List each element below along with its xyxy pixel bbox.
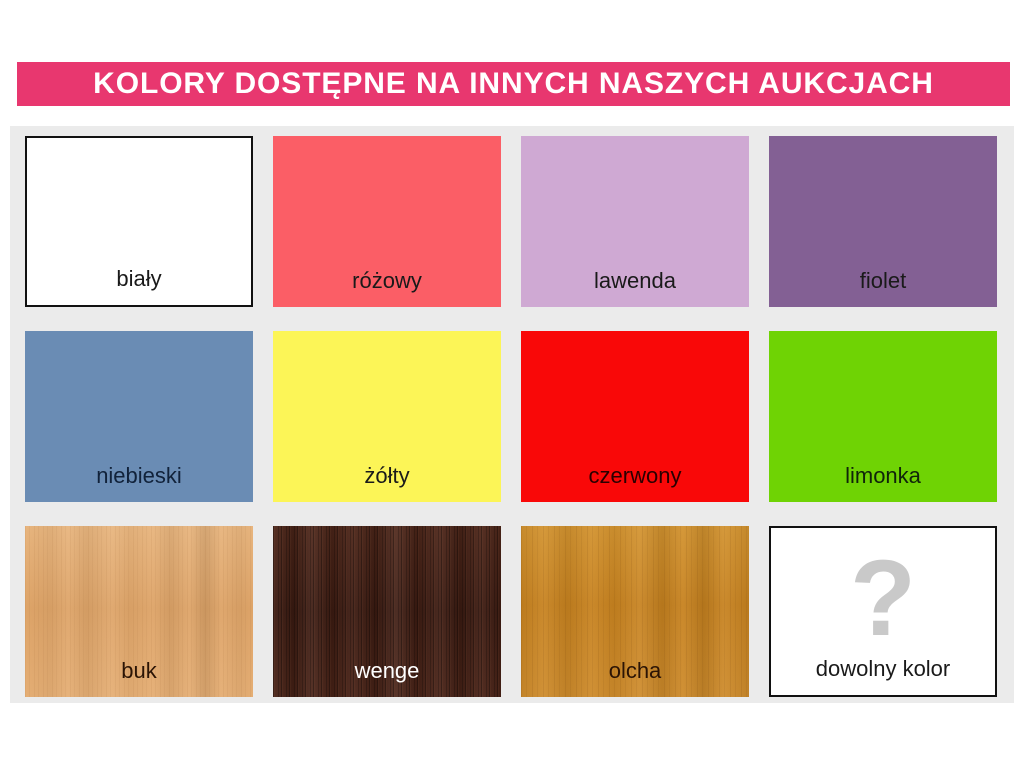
swatch-dowolny-kolor[interactable]: ? dowolny kolor xyxy=(769,526,997,697)
swatch-grid: biały różowy lawenda fiolet niebieski xyxy=(25,136,999,693)
swatch-rozowy[interactable]: różowy xyxy=(273,136,501,307)
swatch-olcha[interactable]: olcha xyxy=(521,526,749,697)
swatch-label-fiolet: fiolet xyxy=(769,269,997,293)
swatch-panel: biały różowy lawenda fiolet niebieski xyxy=(10,126,1014,703)
swatch-label-olcha: olcha xyxy=(521,659,749,683)
swatch-label-rozowy: różowy xyxy=(273,269,501,293)
color-options-page: KOLORY DOSTĘPNE NA INNYCH NASZYCH AUKCJA… xyxy=(0,0,1024,768)
banner-title: KOLORY DOSTĘPNE NA INNYCH NASZYCH AUKCJA… xyxy=(93,69,934,99)
swatch-lawenda[interactable]: lawenda xyxy=(521,136,749,307)
swatch-buk[interactable]: buk xyxy=(25,526,253,697)
swatch-label-wenge: wenge xyxy=(273,659,501,683)
swatch-niebieski[interactable]: niebieski xyxy=(25,331,253,502)
swatch-bialy[interactable]: biały xyxy=(25,136,253,307)
swatch-label-niebieski: niebieski xyxy=(25,464,253,488)
swatch-label-lawenda: lawenda xyxy=(521,269,749,293)
question-mark-icon: ? xyxy=(771,544,995,652)
swatch-limonka[interactable]: limonka xyxy=(769,331,997,502)
swatch-czerwony[interactable]: czerwony xyxy=(521,331,749,502)
swatch-zolty[interactable]: żółty xyxy=(273,331,501,502)
swatch-label-limonka: limonka xyxy=(769,464,997,488)
swatch-label-dowolny-kolor: dowolny kolor xyxy=(771,657,995,681)
swatch-wenge[interactable]: wenge xyxy=(273,526,501,697)
header-banner: KOLORY DOSTĘPNE NA INNYCH NASZYCH AUKCJA… xyxy=(17,62,1010,106)
swatch-fiolet[interactable]: fiolet xyxy=(769,136,997,307)
swatch-label-buk: buk xyxy=(25,659,253,683)
swatch-label-bialy: biały xyxy=(27,267,251,291)
swatch-label-zolty: żółty xyxy=(273,464,501,488)
swatch-label-czerwony: czerwony xyxy=(521,464,749,488)
